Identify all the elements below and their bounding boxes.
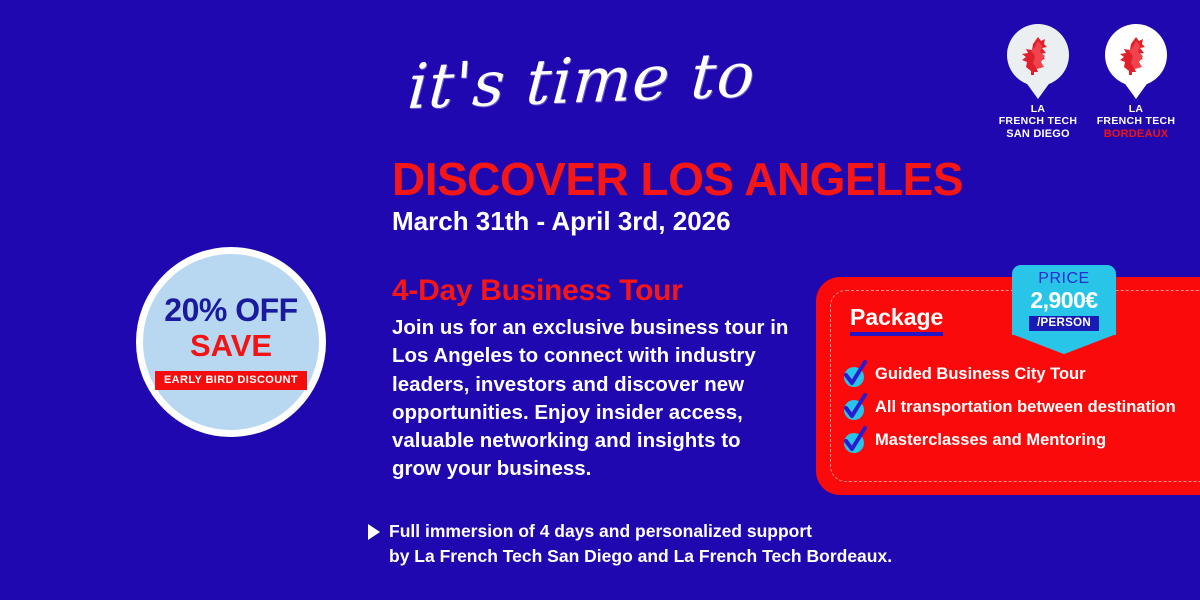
logo-la-french-tech-bordeaux[interactable]: LA FRENCH TECH BORDEAUX [1094,24,1178,140]
price-unit: /PERSON [1029,316,1099,331]
package-item: All transportation between destination [844,398,1182,420]
logo-city: BORDEAUX [1097,128,1176,140]
triangle-bullet-icon [368,524,380,540]
package-item-label: Masterclasses and Mentoring [875,431,1106,451]
price-tag: PRICE 2,900€ /PERSON [1012,265,1116,335]
package-item-list: Guided Business City Tour All transporta… [844,365,1182,453]
footer-line-1: Full immersion of 4 days and personalize… [389,519,892,544]
early-bird-pill: EARLY BIRD DISCOUNT [155,371,307,390]
tour-description: Join us for an exclusive business tour i… [392,314,792,484]
logo-text: LA FRENCH TECH SAN DIEGO [999,104,1078,140]
package-item: Masterclasses and Mentoring [844,431,1182,453]
logo-la-french-tech-san-diego[interactable]: LA FRENCH TECH SAN DIEGO [996,24,1080,140]
check-icon [844,433,864,453]
logo-city: SAN DIEGO [999,128,1078,140]
price-label: PRICE [1018,271,1110,288]
french-tech-rooster-pin-icon [1105,24,1167,86]
logo-line1: LA [999,104,1078,116]
discount-save-label: SAVE [190,328,272,364]
check-icon [844,367,864,387]
footer-line-2: by La French Tech San Diego and La Frenc… [389,544,892,569]
event-dates: March 31th - April 3rd, 2026 [392,206,731,237]
check-icon [844,400,864,420]
package-item-label: All transportation between destination [875,398,1176,418]
early-bird-discount-badge[interactable]: 20% OFF SAVE EARLY BIRD DISCOUNT [136,247,326,437]
promo-banner: LA FRENCH TECH SAN DIEGO LA FRENCH TECH … [0,0,1200,600]
logo-text: LA FRENCH TECH BORDEAUX [1097,104,1176,140]
discount-percent: 20% OFF [164,294,297,326]
package-card: Package Guided Business City Tour All tr… [816,277,1200,495]
logo-group: LA FRENCH TECH SAN DIEGO LA FRENCH TECH … [996,24,1178,140]
logo-line2: FRENCH TECH [999,116,1078,128]
main-headline: DISCOVER LOS ANGELES [392,156,963,202]
tour-title: 4-Day Business Tour [392,274,683,308]
logo-line2: FRENCH TECH [1097,116,1176,128]
package-item-label: Guided Business City Tour [875,365,1086,385]
script-headline: it's time to [406,38,758,123]
french-tech-rooster-pin-icon [1007,24,1069,86]
price-amount: 2,900€ [1018,288,1110,313]
footer-text: Full immersion of 4 days and personalize… [389,519,892,568]
logo-line1: LA [1097,104,1176,116]
footer-note: Full immersion of 4 days and personalize… [368,519,892,568]
package-item: Guided Business City Tour [844,365,1182,387]
package-title: Package [850,304,943,336]
